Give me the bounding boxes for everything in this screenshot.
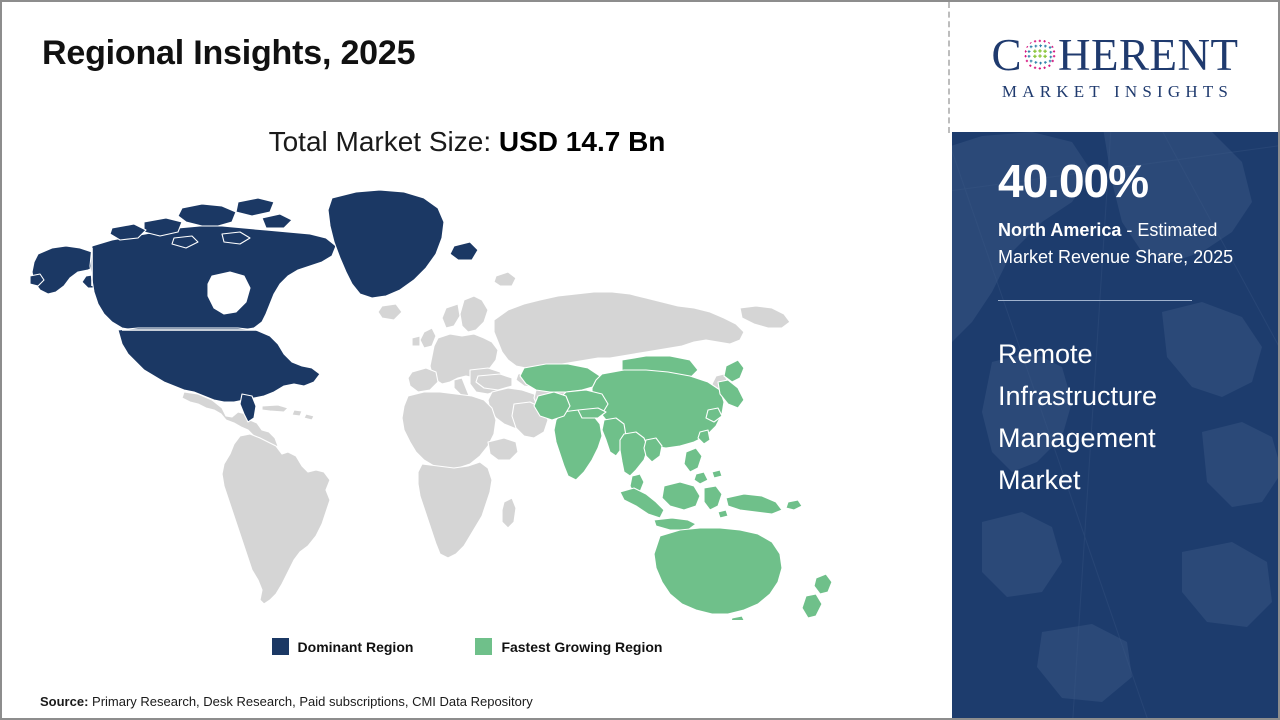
share-region-name: North America — [998, 220, 1121, 240]
logo-tagline: MARKET INSIGHTS — [997, 82, 1233, 102]
market-title: Remote Infrastructure Management Market — [998, 334, 1242, 501]
legend-item-dominant: Dominant Region — [272, 638, 414, 655]
vertical-dashed-divider — [948, 2, 950, 133]
square-swatch-icon — [475, 638, 492, 655]
square-swatch-icon — [272, 638, 289, 655]
logo-wordmark: C — [992, 32, 1239, 78]
map-legend: Dominant Region Fastest Growing Region — [2, 638, 932, 655]
legend-item-fastest-growing: Fastest Growing Region — [475, 638, 662, 655]
right-column: C — [952, 2, 1278, 718]
page-title: Regional Insights, 2025 — [42, 34, 415, 73]
source-text: Primary Research, Desk Research, Paid su… — [88, 694, 532, 709]
slide-canvas: Regional Insights, 2025 Total Market Siz… — [0, 0, 1280, 720]
legend-label-fastest-growing: Fastest Growing Region — [501, 639, 662, 655]
main-content-area: Regional Insights, 2025 Total Market Siz… — [2, 2, 950, 718]
stats-panel: 40.00% North America - Estimated Market … — [952, 132, 1278, 718]
panel-content: 40.00% North America - Estimated Market … — [998, 132, 1268, 718]
brand-logo: C — [952, 2, 1278, 132]
share-description: North America - Estimated Market Revenue… — [998, 217, 1266, 270]
legend-label-dominant: Dominant Region — [298, 639, 414, 655]
total-market-size: Total Market Size: USD 14.7 Bn — [2, 126, 932, 158]
market-size-label: Total Market Size: — [269, 126, 499, 157]
panel-divider — [998, 300, 1192, 301]
logo-letter-c: C — [992, 33, 1023, 78]
world-map — [26, 180, 906, 620]
world-map-svg — [26, 180, 906, 620]
source-note: Source: Primary Research, Desk Research,… — [40, 694, 533, 709]
source-label: Source: — [40, 694, 88, 709]
dotted-globe-icon — [1023, 38, 1057, 72]
logo-word-coherent: HERENT — [1058, 33, 1238, 78]
share-percentage: 40.00% — [998, 158, 1148, 204]
map-region-asia-pacific — [520, 356, 832, 620]
market-size-value: USD 14.7 Bn — [499, 126, 666, 157]
